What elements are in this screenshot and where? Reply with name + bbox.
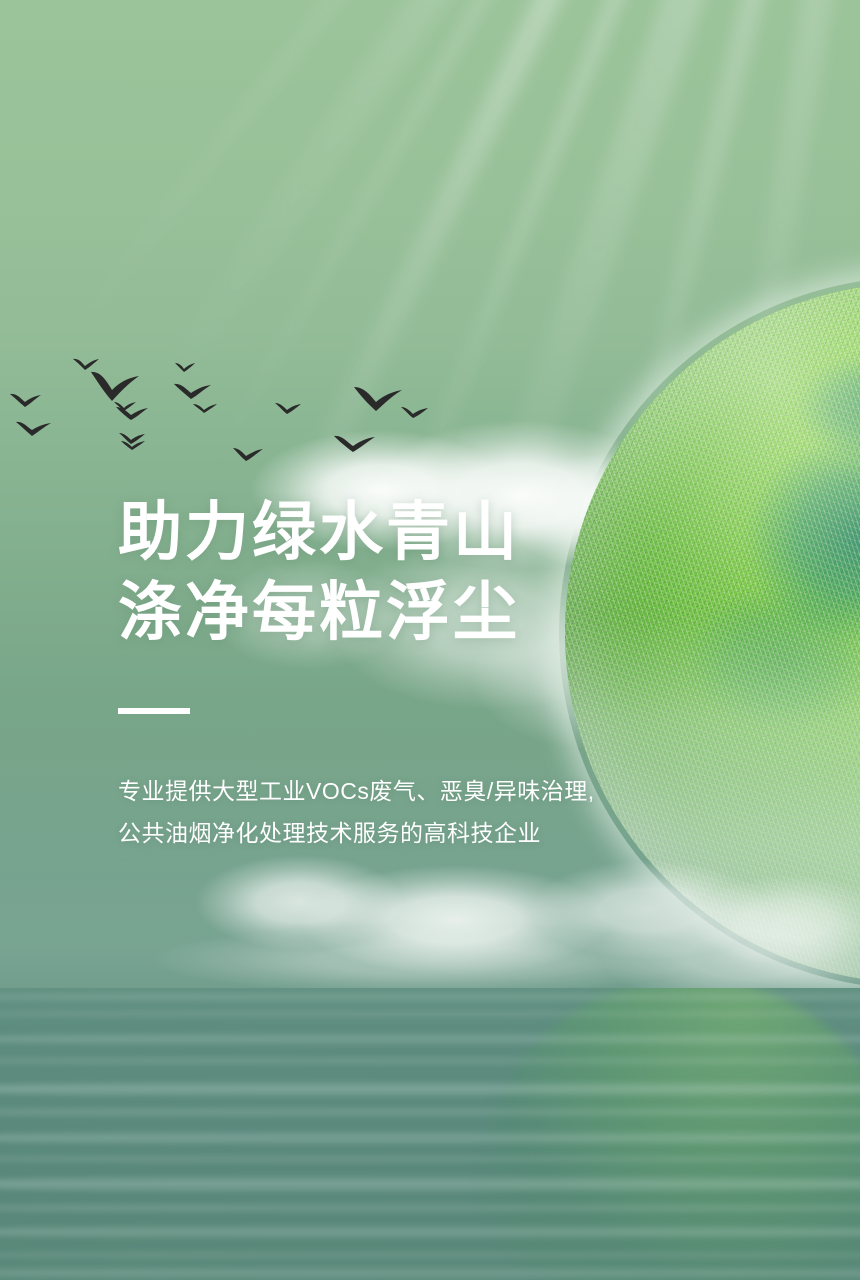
water-ripple xyxy=(0,1106,860,1118)
water-ripple xyxy=(0,1010,860,1018)
water-ripple xyxy=(0,1032,860,1046)
water-ripple xyxy=(0,1154,860,1164)
water-ripple xyxy=(0,1080,860,1098)
water-ripple xyxy=(0,1130,860,1146)
water-ripple xyxy=(0,1266,860,1280)
water-ripple xyxy=(0,1202,860,1214)
title-divider-rule xyxy=(118,708,190,714)
water-ripple xyxy=(0,1056,860,1066)
subtitle-line-1: 专业提供大型工业VOCs废气、恶臭/异味治理, xyxy=(118,770,738,812)
subtitle-line-2: 公共油烟净化处理技术服务的高科技企业 xyxy=(118,812,738,854)
headline-line-2: 涤净每粒浮尘 xyxy=(118,572,738,652)
poster-canvas: 助力绿水青山 涤净每粒浮尘 专业提供大型工业VOCs废气、恶臭/异味治理, 公共… xyxy=(0,0,860,1280)
water-ripple xyxy=(0,1174,860,1194)
headline-line-1: 助力绿水青山 xyxy=(118,492,738,572)
water-ripple xyxy=(0,1250,860,1260)
water-ripple xyxy=(0,992,860,1002)
hero-text-block: 助力绿水青山 涤净每粒浮尘 专业提供大型工业VOCs废气、恶臭/异味治理, 公共… xyxy=(118,492,738,854)
water-surface xyxy=(0,988,860,1280)
water-ripple xyxy=(0,1224,860,1240)
